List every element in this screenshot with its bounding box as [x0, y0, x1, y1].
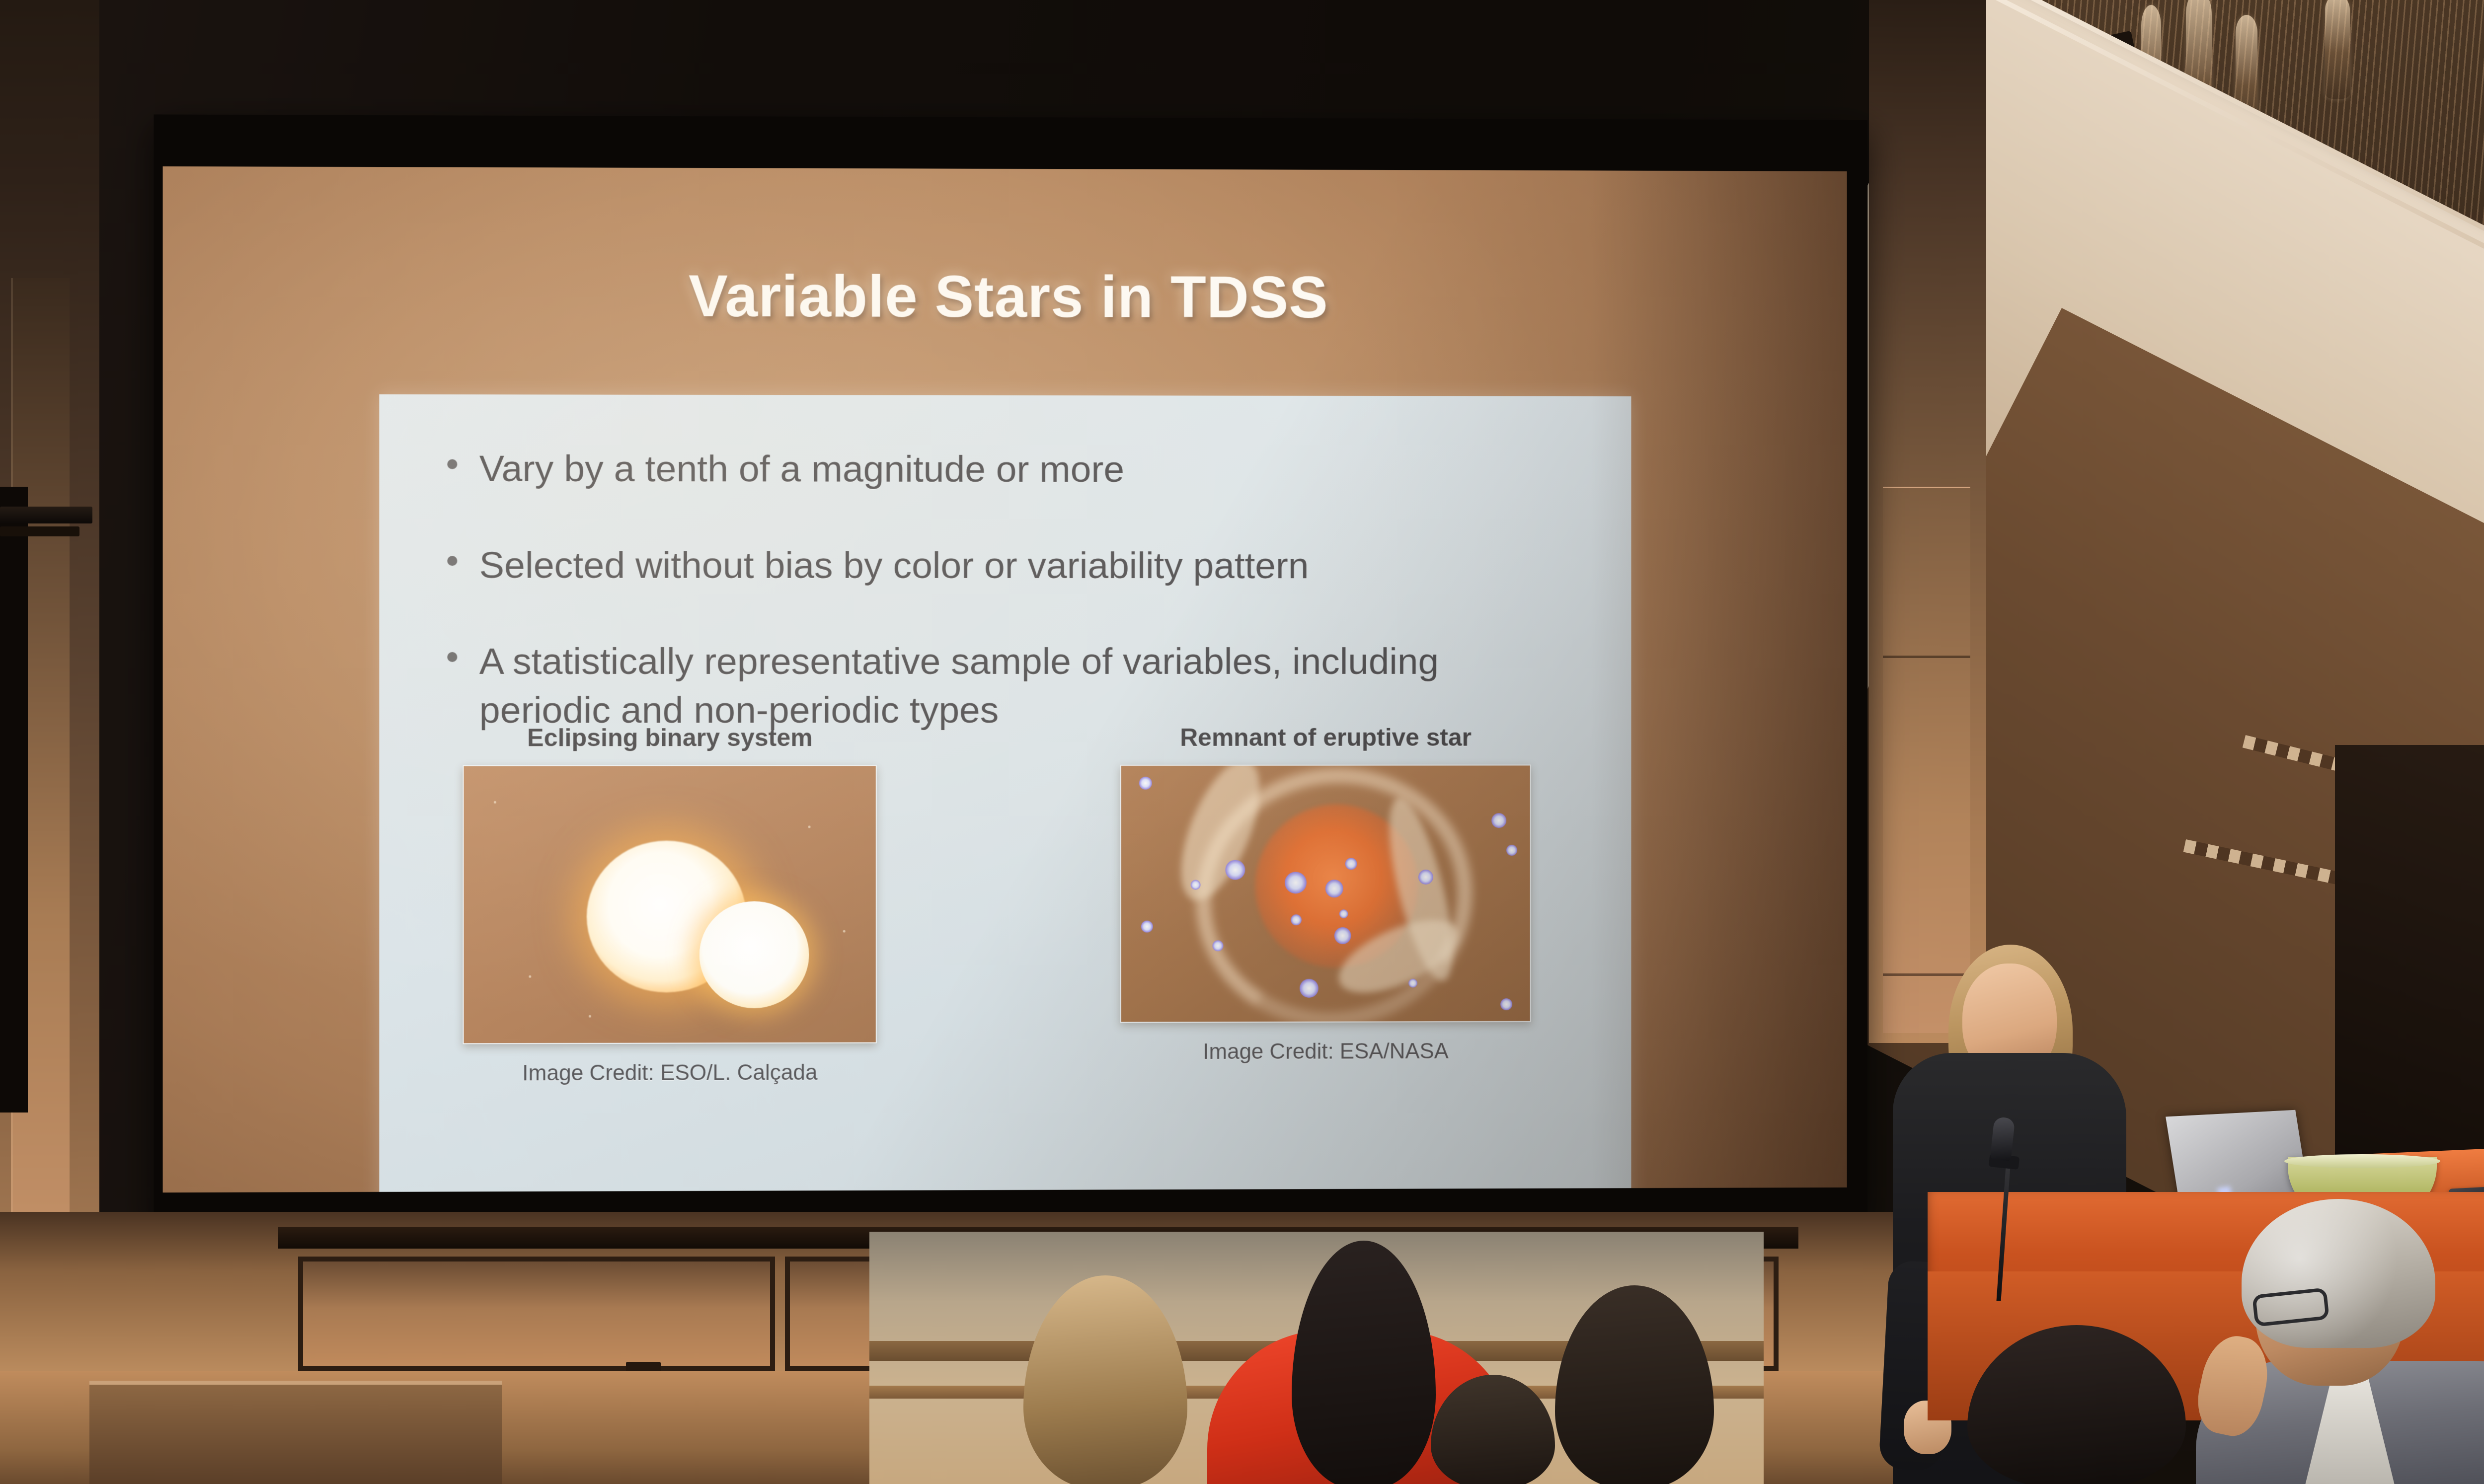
figure-caption: Remnant of eruptive star: [1108, 723, 1544, 752]
star-point: [1191, 880, 1201, 890]
projection-screen-frame: Variable Stars in TDSS Vary by a tenth o…: [154, 114, 1867, 1227]
projection-screen-surface: Variable Stars in TDSS Vary by a tenth o…: [163, 166, 1847, 1192]
star-point: [1334, 927, 1351, 944]
figure-credit: Image Credit: ESO/L. Calçada: [450, 1060, 889, 1086]
dark-ceiling-corner: [2335, 745, 2484, 1192]
figure-credit: Image Credit: ESA/NASA: [1108, 1039, 1544, 1065]
star-point: [1408, 979, 1417, 988]
stage-panel: [298, 1257, 775, 1371]
organ-pipe-icon: [2325, 0, 2350, 99]
lecture-hall-photo: Variable Stars in TDSS Vary by a tenth o…: [0, 0, 2484, 1484]
figure-eclipsing-binary: Eclipsing binary system Image Credit: ES…: [450, 723, 889, 1086]
microphone-icon: [1990, 1116, 2016, 1161]
star-point: [1339, 909, 1348, 918]
star-point: [1506, 845, 1517, 856]
speck: [808, 825, 811, 828]
wall-bracket-arm: [0, 507, 92, 523]
right-column-panel: [1883, 487, 1970, 1033]
star-point: [1491, 813, 1506, 828]
figure-image-eclipsing-binary: [463, 765, 877, 1044]
speck: [843, 930, 846, 933]
green-bowl-rim: [2284, 1154, 2440, 1168]
slide-bullet-3: A statistically representative sample of…: [434, 637, 1567, 735]
speck: [529, 975, 531, 978]
figure-image-remnant: [1120, 764, 1531, 1023]
star-point: [1291, 914, 1302, 925]
star-point: [1325, 880, 1343, 897]
star-point: [1418, 870, 1433, 885]
star-point: [1225, 860, 1245, 880]
figure-eruptive-remnant: Remnant of eruptive star: [1108, 723, 1544, 1065]
star-point: [1139, 777, 1152, 790]
slide-figure-row: Eclipsing binary system Image Credit: ES…: [379, 723, 1631, 1172]
right-column-seam: [1883, 973, 1970, 976]
star-point: [1500, 998, 1512, 1010]
secondary-star-icon: [699, 901, 809, 1009]
wall-bracket-arm-secondary: [0, 526, 79, 536]
speck: [589, 1015, 591, 1018]
speck: [494, 801, 496, 804]
slide-bullet-2: Selected without bias by color or variab…: [434, 541, 1567, 590]
star-point: [1345, 858, 1357, 870]
slide-bullet-1: Vary by a tenth of a magnitude or more: [434, 444, 1567, 494]
star-point: [1141, 921, 1153, 933]
slide-content-panel: Vary by a tenth of a magnitude or more S…: [379, 394, 1631, 1192]
right-column-seam: [1883, 656, 1970, 658]
star-point: [1300, 979, 1319, 998]
left-wall-gap: [0, 487, 28, 1113]
star-point: [1285, 872, 1307, 893]
star-point: [1213, 940, 1224, 951]
screen-shadow: [1591, 170, 1847, 1188]
figure-caption: Eclipsing binary system: [450, 723, 889, 752]
stage-equipment-box: [89, 1381, 502, 1484]
